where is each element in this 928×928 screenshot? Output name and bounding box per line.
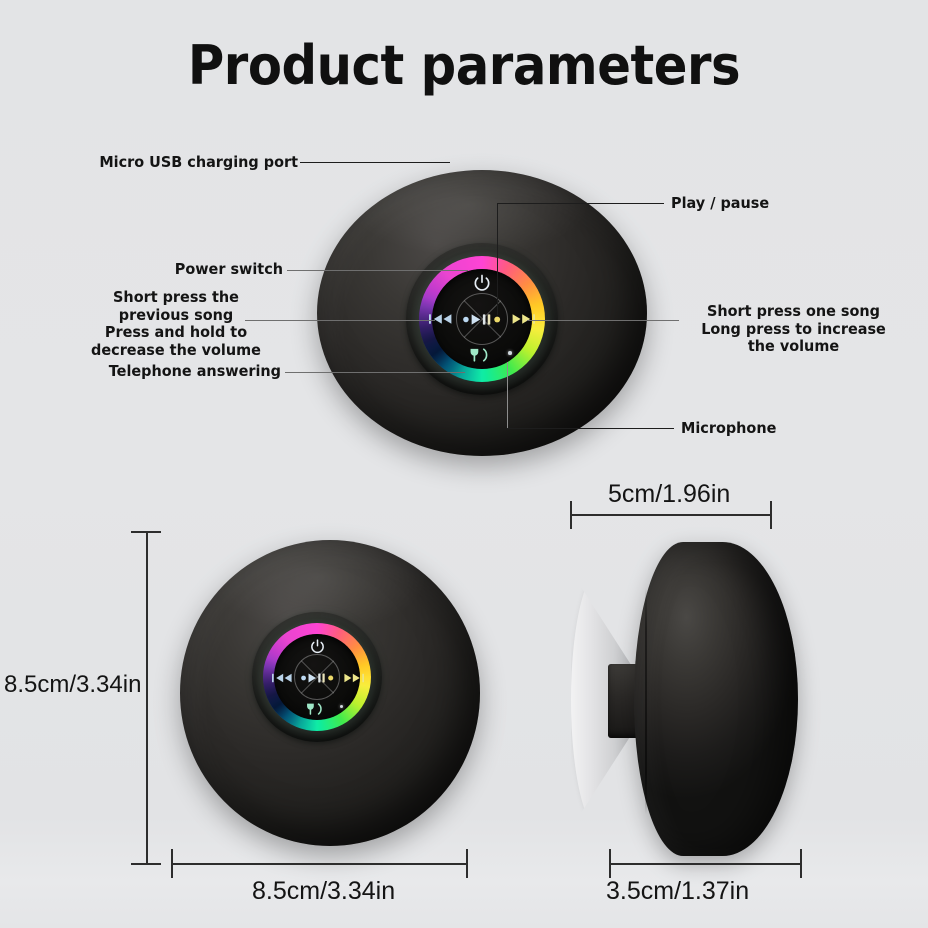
dim-depth-line xyxy=(609,863,802,865)
telephone-icon[interactable] xyxy=(465,343,499,367)
leader-next-song xyxy=(527,320,679,321)
microphone-dot-icon xyxy=(508,351,512,355)
dim-height-cap-bottom xyxy=(131,863,161,865)
leader-microphone-h xyxy=(507,428,674,429)
dim-depth-cap-right xyxy=(800,849,802,878)
dim-top-right-label: 5cm/1.96in xyxy=(608,480,730,509)
speaker-side-seam xyxy=(645,588,647,814)
callout-telephone-answering: Telephone answering xyxy=(48,363,281,381)
dim-depth-cap-left xyxy=(609,849,611,878)
dim-height-cap-top xyxy=(131,531,161,533)
power-icon[interactable] xyxy=(469,270,495,296)
dim-top-right-cap-left xyxy=(570,501,572,529)
control-panel-front-view xyxy=(252,612,382,742)
previous-track-icon[interactable] xyxy=(428,307,454,331)
leader-telephone xyxy=(285,372,465,373)
callout-next-song: Short press one song Long press to incre… xyxy=(689,303,898,356)
callout-play-pause: Play / pause xyxy=(671,195,876,213)
previous-track-icon-front[interactable] xyxy=(270,667,294,689)
dim-height-label: 8.5cm/3.34in xyxy=(4,671,141,699)
product-parameters-infographic: Product parameters xyxy=(0,0,928,928)
page-title: Product parameters xyxy=(37,34,891,97)
telephone-icon-front[interactable] xyxy=(301,698,333,720)
dim-top-right-line xyxy=(570,514,772,516)
leader-play-pause-h xyxy=(497,203,664,204)
leader-power-switch xyxy=(287,270,468,271)
dim-height-line xyxy=(146,531,148,865)
next-track-icon[interactable] xyxy=(510,307,536,331)
dim-width-line xyxy=(171,863,468,865)
power-icon-front[interactable] xyxy=(305,634,329,658)
callout-micro-usb: Micro USB charging port xyxy=(49,154,298,172)
speaker-side-view-body xyxy=(634,542,798,856)
play-pause-icon-front[interactable] xyxy=(300,669,334,687)
leader-play-pause-v xyxy=(497,203,498,315)
leader-micro-usb xyxy=(300,162,450,163)
dim-width-cap-left xyxy=(171,849,173,878)
dim-width-cap-right xyxy=(466,849,468,878)
callout-microphone: Microphone xyxy=(681,420,886,438)
leader-microphone-v xyxy=(507,362,508,428)
next-track-icon-front[interactable] xyxy=(341,667,365,689)
callout-power-switch: Power switch xyxy=(48,261,283,279)
play-pause-icon[interactable] xyxy=(463,309,501,329)
dim-width-label: 8.5cm/3.34in xyxy=(252,877,395,906)
dim-depth-label: 3.5cm/1.37in xyxy=(606,877,749,906)
dim-top-right-cap-right xyxy=(770,501,772,529)
callout-previous-song: Short press the previous song Press and … xyxy=(61,289,292,359)
